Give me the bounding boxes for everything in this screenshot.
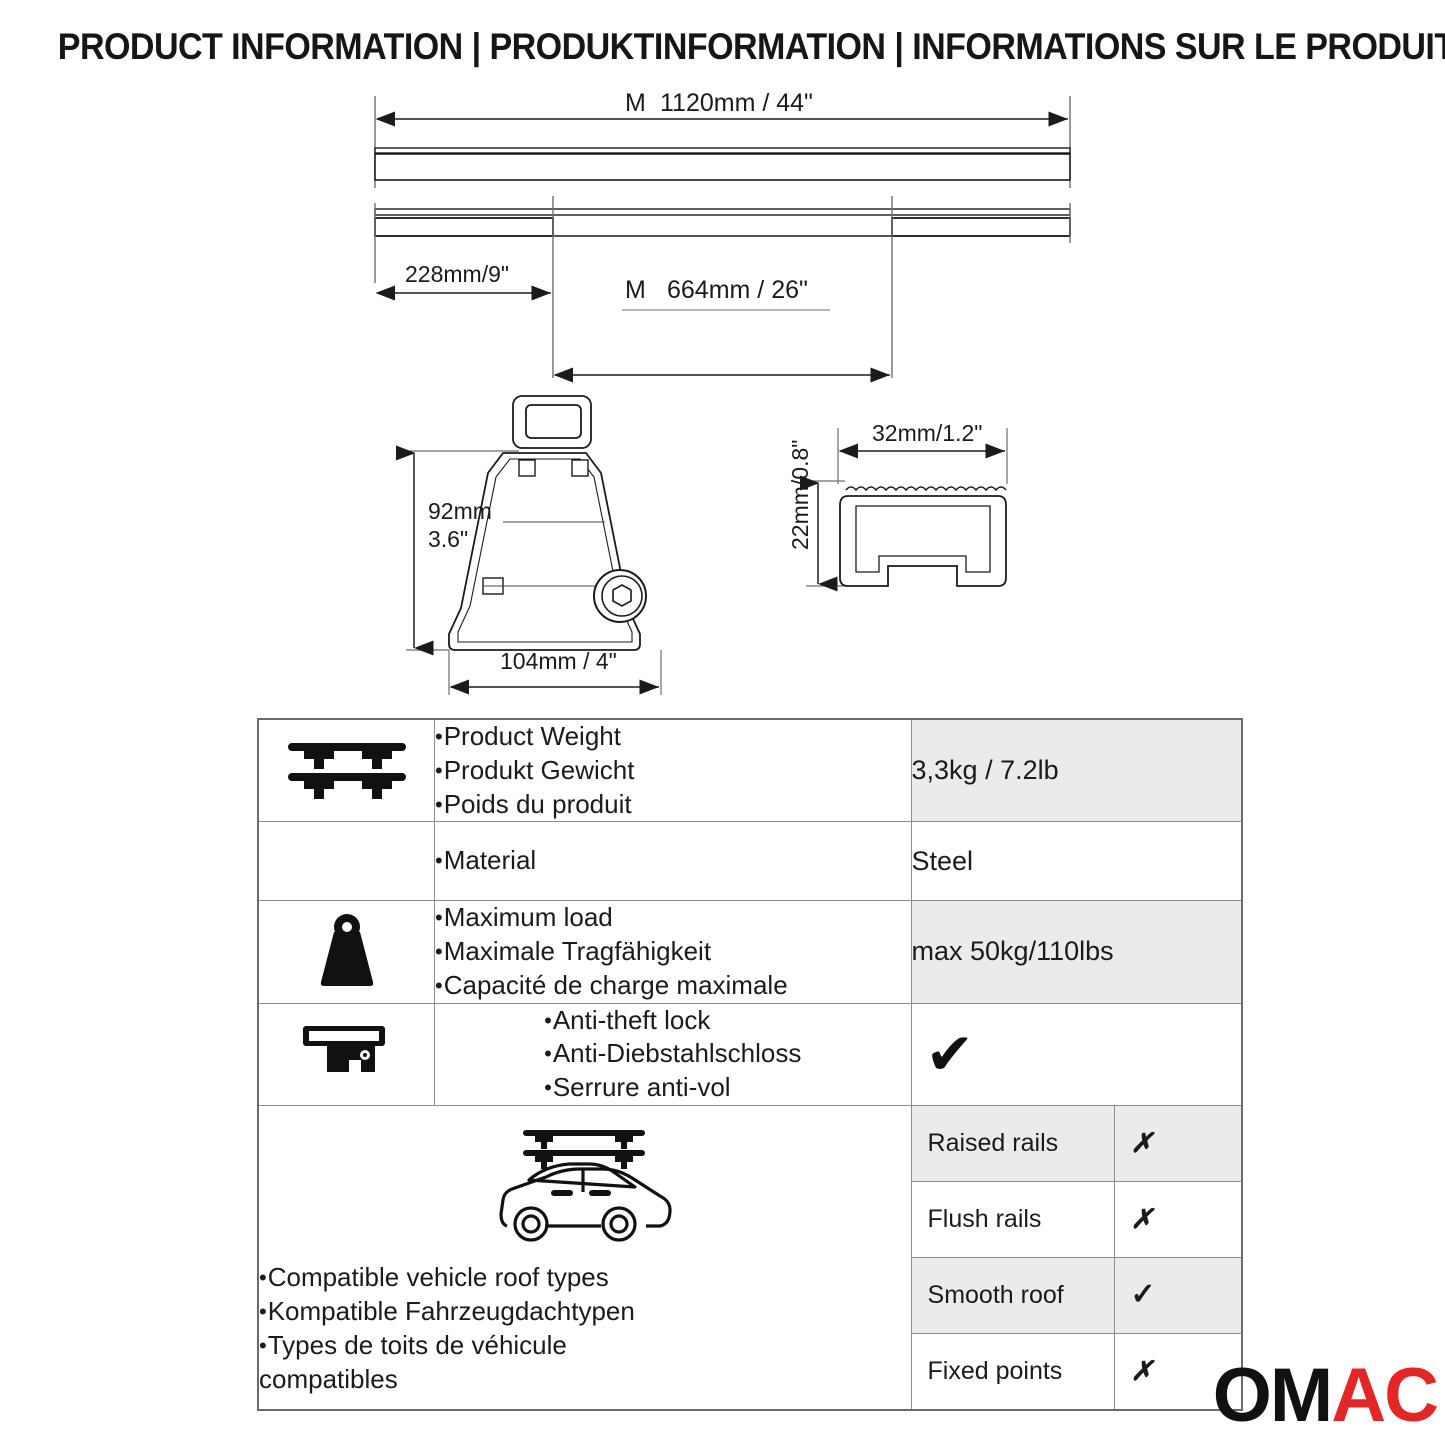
maximum-load-labels: Maximum load Maximale Tragfähigkeit Capa… (435, 901, 912, 1003)
table-row: Compatible vehicle roof types Kompatible… (258, 1105, 1242, 1410)
technical-drawing: M 1120mm / 44" 228mm/9" M 664mm / 26" (0, 78, 1445, 708)
lock-bar-icon (301, 1069, 393, 1086)
roof-types-table: Raised rails ✗ Flush rails ✗ Smooth roof… (912, 1106, 1241, 1409)
roof-types-table-cell: Raised rails ✗ Flush rails ✗ Smooth roof… (911, 1105, 1242, 1410)
specification-table: Product Weight Produkt Gewicht Poids du … (257, 718, 1243, 1411)
foot-height-line1: 92mm (428, 498, 492, 524)
check-icon: ✓ (1131, 1278, 1156, 1311)
weight-icon (312, 973, 382, 990)
omac-logo: OMAC (1213, 1357, 1437, 1435)
check-icon: ✔ (912, 1025, 1241, 1083)
label-en: Anti-theft lock (544, 1004, 801, 1038)
label-de: Anti-Diebstahlschloss (544, 1037, 801, 1071)
roof-type-mark-cell: ✗ (1114, 1181, 1241, 1257)
crossbars-icon-cell (258, 719, 435, 822)
profile-height-value: 22mm/0.8" (787, 440, 813, 550)
label-fr: Capacité de charge maximale (435, 969, 911, 1003)
cross-icon: ✗ (1131, 1356, 1154, 1386)
roof-type-row: Flush rails ✗ (912, 1181, 1241, 1257)
roof-type-row: Raised rails ✗ (912, 1106, 1241, 1182)
bar-length-prefix: M (625, 89, 646, 117)
crossbars-icon (284, 786, 410, 803)
bar-length-value: 1120mm / 44" (660, 89, 813, 117)
table-row: Material Steel (258, 822, 1242, 901)
foot-height-line2: 3.6" (428, 526, 468, 552)
roof-type-row: Smooth roof ✓ (912, 1257, 1241, 1333)
label-de: Maximale Tragfähigkeit (435, 935, 911, 969)
page-title: PRODUCT INFORMATION | PRODUKTINFORMATION… (58, 26, 1387, 68)
lock-bar-icon-cell (258, 1003, 435, 1105)
table-row: Product Weight Produkt Gewicht Poids du … (258, 719, 1242, 822)
label-en: Material (435, 844, 911, 878)
weight-icon-cell (258, 901, 435, 1003)
roof-type-name: Fixed points (912, 1333, 1115, 1409)
logo-text-om: OM (1213, 1353, 1331, 1438)
product-weight-value: 3,3kg / 7.2lb (911, 719, 1242, 822)
roof-type-name: Smooth roof (912, 1257, 1115, 1333)
foot-spacing-value: 664mm / 26" (667, 276, 808, 304)
anti-theft-lock-value-cell: ✔ (911, 1003, 1242, 1105)
label-de: Produkt Gewicht (435, 754, 911, 788)
anti-theft-lock-labels: Anti-theft lock Anti-Diebstahlschloss Se… (435, 1003, 912, 1105)
label-fr: Serrure anti-vol (544, 1071, 801, 1105)
roof-type-mark-cell: ✓ (1114, 1257, 1241, 1333)
maximum-load-value: max 50kg/110lbs (911, 901, 1242, 1003)
foot-offset-value: 228mm/9" (405, 261, 509, 287)
logo-text-ac: AC (1331, 1353, 1437, 1438)
roof-type-row: Fixed points ✗ (912, 1333, 1241, 1409)
table-row: Maximum load Maximale Tragfähigkeit Capa… (258, 901, 1242, 1003)
foot-width-value: 104mm / 4" (500, 648, 617, 674)
roof-type-mark-cell: ✗ (1114, 1106, 1241, 1182)
foot-spacing-prefix: M (625, 276, 646, 304)
cross-icon: ✗ (1131, 1128, 1154, 1158)
roof-type-name: Raised rails (912, 1106, 1115, 1182)
material-labels: Material (435, 822, 912, 901)
label-en: Maximum load (435, 901, 911, 935)
roof-types-labels-cell: Compatible vehicle roof types Kompatible… (258, 1105, 911, 1410)
label-en: Product Weight (435, 720, 911, 754)
label-fr: Poids du produit (435, 788, 911, 822)
roof-type-name: Flush rails (912, 1181, 1115, 1257)
product-weight-labels: Product Weight Produkt Gewicht Poids du … (435, 719, 912, 822)
label-de: Kompatible Fahrzeugdachtypen (259, 1295, 911, 1329)
material-icon-cell (258, 822, 435, 901)
material-value: Steel (911, 822, 1242, 901)
car-with-roofrack-icon (485, 1235, 685, 1252)
table-row: Anti-theft lock Anti-Diebstahlschloss Se… (258, 1003, 1242, 1105)
cross-icon: ✗ (1131, 1204, 1154, 1234)
profile-width-value: 32mm/1.2" (872, 420, 982, 446)
label-fr: Types de toits de véhicule compatibles (259, 1329, 639, 1397)
label-en: Compatible vehicle roof types (259, 1261, 911, 1295)
